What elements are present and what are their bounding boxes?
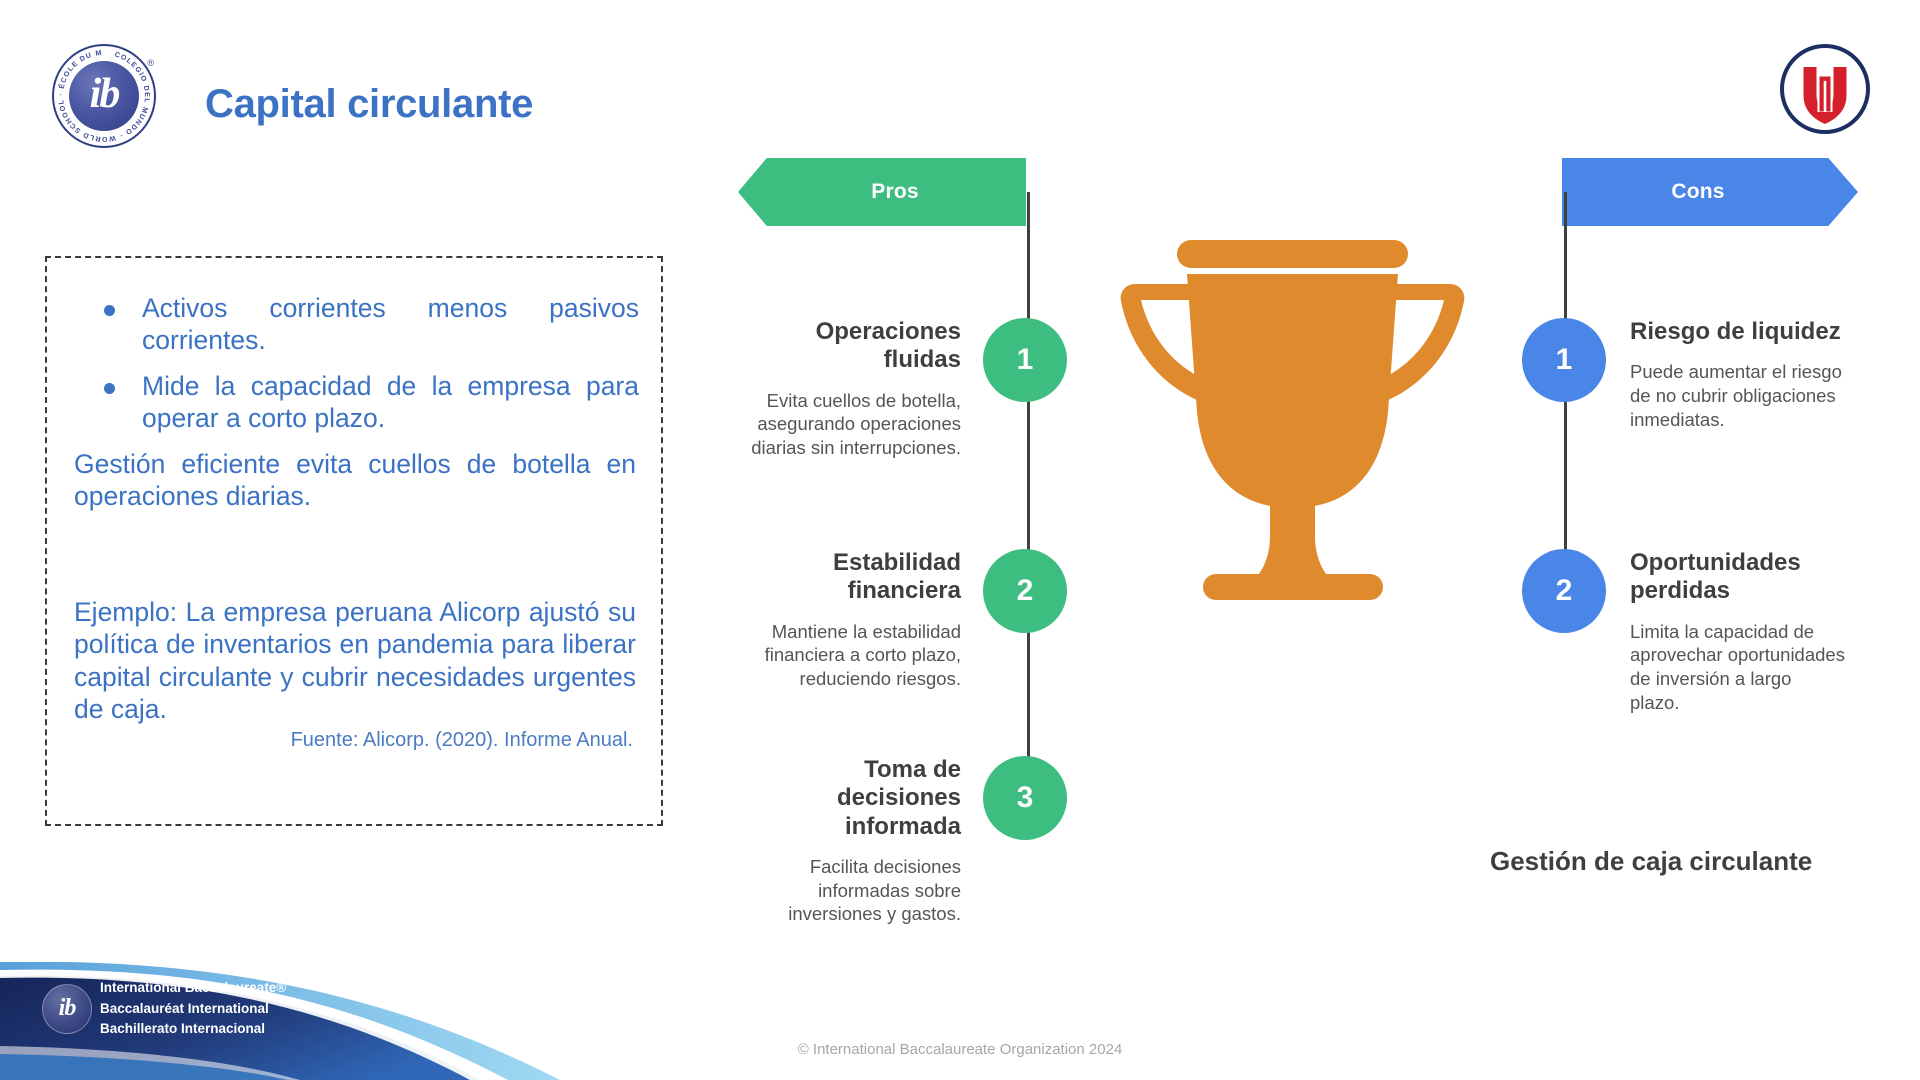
- pros-item-3-description: Facilita decisiones informadas sobre inv…: [746, 855, 961, 926]
- cons-item-1-number: 1: [1522, 318, 1606, 402]
- registered-mark: ®: [147, 58, 154, 68]
- pros-item-1-number: 1: [983, 318, 1067, 402]
- pros-item-2-text: Estabilidad financiera Mantiene la estab…: [746, 549, 961, 691]
- list-item: Mide la capacidad de la empresa para ope…: [69, 370, 639, 434]
- pros-item-2-heading: Estabilidad financiera: [746, 549, 961, 606]
- pros-item-2: Estabilidad financiera Mantiene la estab…: [746, 549, 1067, 691]
- pros-item-3-text: Toma de decisiones informada Facilita de…: [746, 756, 961, 926]
- school-shield-logo: [1778, 42, 1872, 136]
- cons-item-2-heading: Oportunidades perdidas: [1630, 549, 1845, 606]
- definition-bullet-list: Activos corrientes menos pasivos corrien…: [69, 292, 639, 434]
- footer-organization-names: International Baccalaureate® Baccalauréa…: [100, 978, 286, 1040]
- summary-paragraph: Gestión eficiente evita cuellos de botel…: [69, 448, 639, 512]
- cons-item-2: 2 Oportunidades perdidas Limita la capac…: [1522, 549, 1845, 714]
- pros-item-1-heading: Operaciones fluidas: [746, 318, 961, 375]
- pros-banner: Pros: [738, 158, 1026, 226]
- pros-item-1: Operaciones fluidas Evita cuellos de bot…: [746, 318, 1067, 460]
- cons-item-2-text: Oportunidades perdidas Limita la capacid…: [1630, 549, 1845, 714]
- cons-item-1-text: Riesgo de liquidez Puede aumentar el rie…: [1630, 318, 1845, 431]
- pros-item-3-number: 3: [983, 756, 1067, 840]
- pros-item-1-text: Operaciones fluidas Evita cuellos de bot…: [746, 318, 961, 460]
- cons-item-1-heading: Riesgo de liquidez: [1630, 318, 1841, 346]
- cons-banner: Cons: [1562, 158, 1858, 226]
- list-item: Activos corrientes menos pasivos corrien…: [69, 292, 639, 356]
- ib-monogram: ib: [69, 61, 139, 131]
- pros-spine-line: [1027, 192, 1030, 832]
- cons-item-2-description: Limita la capacidad de aprovechar oportu…: [1630, 620, 1845, 715]
- footer-name-fr: Baccalauréat International: [100, 999, 286, 1020]
- cons-item-1: 1 Riesgo de liquidez Puede aumentar el r…: [1522, 318, 1845, 431]
- footer-ib-monogram: ib: [59, 996, 76, 1020]
- center-caption: Gestión de caja circulante: [1490, 846, 1812, 877]
- example-paragraph: Ejemplo: La empresa peruana Alicorp ajus…: [69, 596, 639, 724]
- footer-name-en: International Baccalaureate®: [100, 978, 286, 999]
- source-citation: Fuente: Alicorp. (2020). Informe Anual.: [69, 729, 639, 752]
- footer-ib-logo: ib: [42, 984, 92, 1034]
- copyright-text: © International Baccalaureate Organizati…: [0, 1041, 1920, 1058]
- trophy-icon: [1115, 236, 1470, 611]
- pros-banner-label: Pros: [871, 180, 919, 204]
- pros-item-2-description: Mantiene la estabilidad financiera a cor…: [746, 620, 961, 691]
- footer-name-es: Bachillerato Internacional: [100, 1019, 286, 1040]
- ib-monogram-text: ib: [90, 73, 119, 115]
- pros-item-3-heading: Toma de decisiones informada: [746, 756, 961, 841]
- slide-canvas: COLEGIO DEL MUNDO · WORLD SCHOOL · ÉCOLE…: [0, 0, 1920, 1080]
- cons-item-2-number: 2: [1522, 549, 1606, 633]
- pros-item-3: Toma de decisiones informada Facilita de…: [746, 756, 1067, 926]
- cons-item-1-description: Puede aumentar el riesgo de no cubrir ob…: [1630, 360, 1845, 431]
- info-card: Activos corrientes menos pasivos corrien…: [45, 256, 663, 826]
- page-title: Capital circulante: [205, 82, 533, 127]
- ib-world-school-logo: COLEGIO DEL MUNDO · WORLD SCHOOL · ÉCOLE…: [52, 44, 156, 148]
- pros-item-1-description: Evita cuellos de botella, asegurando ope…: [746, 389, 961, 460]
- cons-banner-label: Cons: [1671, 180, 1724, 204]
- pros-item-2-number: 2: [983, 549, 1067, 633]
